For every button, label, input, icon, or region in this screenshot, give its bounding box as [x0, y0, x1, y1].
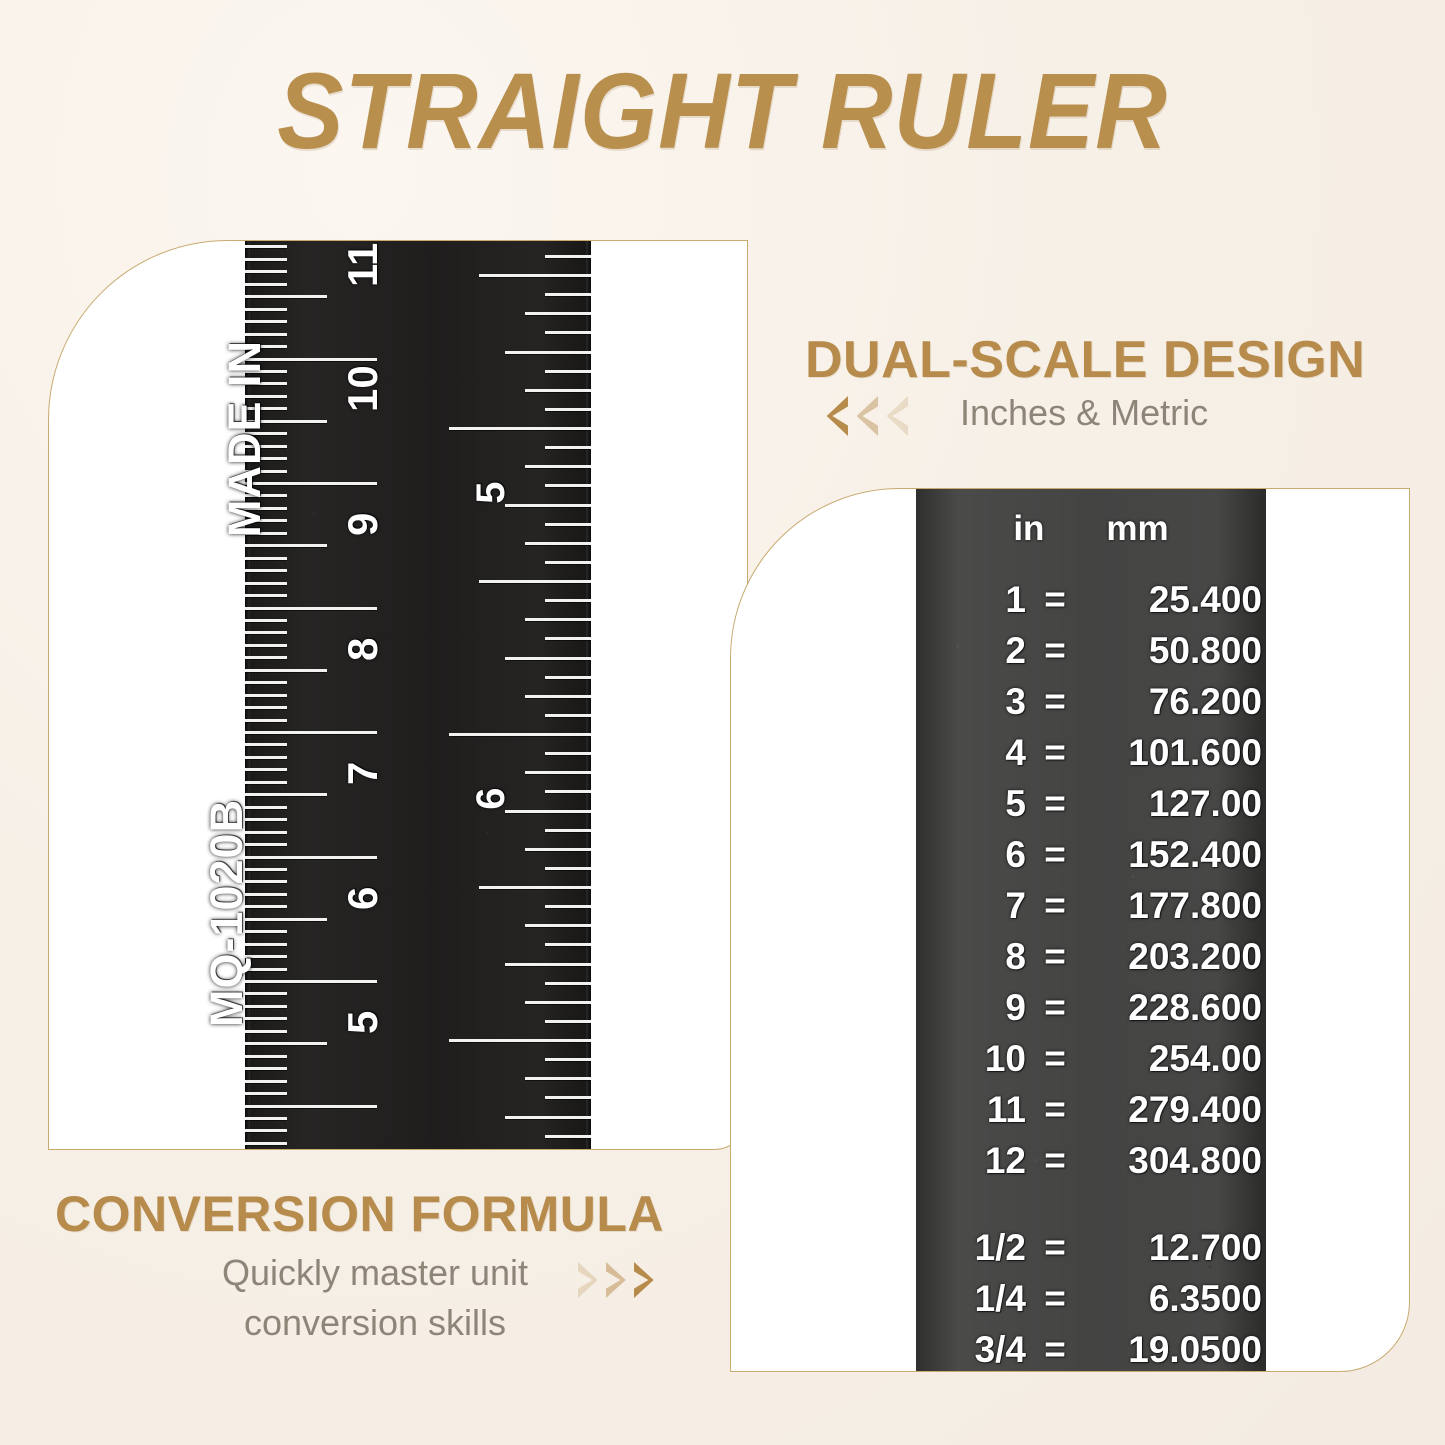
chevron-left-icon	[882, 396, 908, 436]
ruler-tick	[245, 656, 287, 659]
ruler-tick	[245, 295, 327, 298]
dual-scale-subtitle: Inches & Metric	[960, 392, 1208, 434]
ruler-tick	[245, 669, 327, 672]
chevron-left-icon	[852, 396, 878, 436]
ruler-tick	[545, 523, 591, 526]
metric-scale-number: 8	[339, 637, 387, 660]
ruler-tick	[545, 446, 591, 449]
ruler-tick	[245, 743, 287, 746]
conversion-inches-value: 1/4	[916, 1278, 1038, 1320]
equals-sign: =	[1038, 1278, 1072, 1320]
conversion-inches-value: 3	[916, 681, 1038, 723]
conversion-row: 3/4=19.0500	[916, 1329, 1266, 1372]
equals-sign: =	[1038, 681, 1072, 723]
ruler-tick	[245, 283, 287, 286]
conversion-inches-value: 3/4	[916, 1329, 1038, 1371]
conversion-row: 4=101.600	[916, 732, 1266, 783]
ruler-tick	[545, 255, 591, 258]
equals-sign: =	[1038, 1329, 1072, 1371]
ruler-tick	[245, 756, 287, 759]
model-number-label: MQ-1020B	[201, 799, 253, 1027]
column-header-mm: mm	[1106, 509, 1168, 549]
conversion-row: 11=279.400	[916, 1089, 1266, 1140]
ruler-tick	[505, 504, 591, 507]
ruler-tick	[545, 905, 591, 908]
equals-sign: =	[1038, 834, 1072, 876]
inch-tick-scale	[441, 240, 591, 1150]
ruler-tick	[245, 569, 287, 572]
ruler-tick	[245, 557, 287, 560]
equals-sign: =	[1038, 1038, 1072, 1080]
ruler-tick	[245, 544, 327, 547]
ruler-tick	[545, 752, 591, 755]
conversion-inches-value: 10	[916, 1038, 1038, 1080]
conversion-row-list: 1=25.4002=50.8003=76.2004=101.6005=127.0…	[916, 579, 1266, 1372]
inch-scale-number: 6	[469, 788, 514, 810]
equals-sign: =	[1038, 885, 1072, 927]
ruler-tick	[545, 484, 591, 487]
equals-sign: =	[1038, 732, 1072, 774]
ruler-tick	[545, 1020, 591, 1023]
chevron-right-icon	[578, 1262, 602, 1298]
ruler-tick	[245, 781, 287, 784]
conversion-row: 1=25.400	[916, 579, 1266, 630]
ruler-tick	[245, 1105, 377, 1108]
ruler-tick	[545, 982, 591, 985]
ruler-tick	[525, 312, 591, 315]
ruler-tick	[245, 918, 327, 921]
metric-scale-number: 10	[339, 365, 387, 412]
ruler-product-panel: 111098765 456 MADE IN MQ-1020B	[48, 240, 748, 1150]
dual-scale-heading: DUAL-SCALE DESIGN	[805, 330, 1365, 390]
ruler-tick	[505, 351, 591, 354]
equals-sign: =	[1038, 987, 1072, 1029]
ruler-tick	[245, 594, 287, 597]
conversion-inches-value: 2	[916, 630, 1038, 672]
conversion-inches-value: 9	[916, 987, 1038, 1029]
ruler-tick	[245, 1142, 287, 1145]
conversion-inches-value: 11	[916, 1089, 1038, 1131]
ruler-tick	[245, 308, 287, 311]
ruler-tick	[545, 943, 591, 946]
ruler-tick	[245, 856, 377, 859]
conversion-inches-value: 6	[916, 834, 1038, 876]
ruler-tick	[545, 293, 591, 296]
ruler-tick	[545, 599, 591, 602]
equals-sign: =	[1038, 1227, 1072, 1269]
ruler-tick	[545, 790, 591, 793]
metric-scale-number: 11	[339, 243, 387, 287]
equals-sign: =	[1038, 783, 1072, 825]
conversion-row: 12=304.800	[916, 1140, 1266, 1191]
ruler-tick	[545, 1058, 591, 1061]
ruler-tick	[245, 731, 377, 734]
ruler-tick	[545, 561, 591, 564]
ruler-tick	[245, 1080, 287, 1083]
ruler-tick	[505, 963, 591, 966]
ruler-tick	[245, 333, 287, 336]
ruler-tick	[545, 676, 591, 679]
conversion-inches-value: 5	[916, 783, 1038, 825]
conversion-formula-heading: CONVERSION FORMULA	[55, 1185, 664, 1243]
ruler-tick	[525, 695, 591, 698]
metric-scale-number: 5	[339, 1011, 387, 1034]
conversion-mm-value: 12.700	[1072, 1227, 1262, 1269]
ruler-tick	[545, 408, 591, 411]
ruler-tick	[545, 714, 591, 717]
conversion-row: 7=177.800	[916, 885, 1266, 936]
ruler-tick	[545, 1096, 591, 1099]
conversion-row: 1/2=12.700	[916, 1227, 1266, 1278]
metric-scale-number: 9	[339, 513, 387, 536]
ruler-tick	[245, 245, 287, 248]
ruler-tick	[245, 644, 287, 647]
conversion-table-header: in mm	[916, 509, 1266, 549]
conversion-inches-value: 1	[916, 579, 1038, 621]
ruler-tick	[525, 1001, 591, 1004]
ruler-tick	[545, 331, 591, 334]
ruler-tick	[245, 1092, 287, 1095]
ruler-tick	[245, 1042, 327, 1045]
equals-sign: =	[1038, 1089, 1072, 1131]
ruler-tick	[545, 637, 591, 640]
ruler-tick	[525, 1077, 591, 1080]
chevron-left-icon	[822, 396, 848, 436]
ruler-tick	[245, 706, 287, 709]
conversion-mm-value: 203.200	[1072, 936, 1262, 978]
equals-sign: =	[1038, 936, 1072, 978]
conversion-mm-value: 127.00	[1072, 783, 1262, 825]
conversion-mm-value: 279.400	[1072, 1089, 1262, 1131]
ruler-tick	[525, 542, 591, 545]
ruler-tick	[245, 619, 287, 622]
ruler-tick	[525, 389, 591, 392]
conversion-mm-value: 254.00	[1072, 1038, 1262, 1080]
conversion-row: 10=254.00	[916, 1038, 1266, 1089]
conversion-formula-chevrons	[578, 1262, 658, 1298]
equals-sign: =	[1038, 1140, 1072, 1182]
ruler-tick	[245, 631, 287, 634]
ruler-tick	[245, 694, 287, 697]
ruler-tick	[245, 1129, 287, 1132]
conversion-mm-value: 76.200	[1072, 681, 1262, 723]
dual-scale-chevrons	[822, 396, 908, 436]
equals-sign: =	[1038, 630, 1072, 672]
conversion-row: 6=152.400	[916, 834, 1266, 885]
metric-scale-number: 6	[339, 886, 387, 909]
conversion-mm-value: 6.3500	[1072, 1278, 1262, 1320]
conversion-row: 1/4=6.3500	[916, 1278, 1266, 1329]
conversion-formula-subtitle: Quickly master unit conversion skills	[175, 1248, 575, 1348]
ruler-tick	[505, 1116, 591, 1119]
conversion-plate: in mm 1=25.4002=50.8003=76.2004=101.6005…	[916, 488, 1266, 1372]
ruler-tick	[449, 427, 591, 430]
ruler-tick	[525, 924, 591, 927]
conversion-table-separator	[916, 1191, 1266, 1227]
conversion-inches-value: 1/2	[916, 1227, 1038, 1269]
ruler-tick	[505, 810, 591, 813]
conversion-mm-value: 177.800	[1072, 885, 1262, 927]
conversion-row: 2=50.800	[916, 630, 1266, 681]
ruler-tick	[525, 465, 591, 468]
ruler-tick	[245, 719, 287, 722]
ruler-tick	[245, 607, 377, 610]
ruler-tick	[505, 657, 591, 660]
metric-scale-number: 7	[339, 762, 387, 785]
conversion-inches-value: 7	[916, 885, 1038, 927]
conversion-mm-value: 101.600	[1072, 732, 1262, 774]
conversion-row: 8=203.200	[916, 936, 1266, 987]
ruler-tick	[525, 848, 591, 851]
ruler-tick	[245, 980, 377, 983]
ruler-body: 111098765 456	[245, 240, 591, 1150]
ruler-tick	[545, 829, 591, 832]
ruler-tick	[245, 1067, 287, 1070]
conversion-inches-value: 8	[916, 936, 1038, 978]
conversion-mm-value: 152.400	[1072, 834, 1262, 876]
ruler-tick	[245, 320, 287, 323]
conversion-row: 3=76.200	[916, 681, 1266, 732]
ruler-tick	[245, 1030, 287, 1033]
ruler-tick	[545, 867, 591, 870]
conversion-mm-value: 50.800	[1072, 630, 1262, 672]
ruler-tick	[545, 1135, 591, 1138]
ruler-tick	[245, 768, 287, 771]
conversion-mm-value: 228.600	[1072, 987, 1262, 1029]
conversion-inches-value: 12	[916, 1140, 1038, 1182]
ruler-tick	[479, 886, 591, 889]
ruler-tick	[449, 733, 591, 736]
conversion-inches-value: 4	[916, 732, 1038, 774]
ruler-tick	[245, 582, 287, 585]
ruler-tick	[245, 793, 327, 796]
equals-sign: =	[1038, 579, 1072, 621]
ruler-tick	[245, 681, 287, 684]
column-header-in: in	[1013, 509, 1044, 549]
ruler-tick	[245, 258, 287, 261]
conversion-table-panel: in mm 1=25.4002=50.8003=76.2004=101.6005…	[730, 488, 1410, 1372]
conversion-mm-value: 19.0500	[1072, 1329, 1262, 1371]
chevron-right-icon	[606, 1262, 630, 1298]
chevron-right-icon	[634, 1262, 658, 1298]
ruler-tick	[449, 1039, 591, 1042]
made-in-label: MADE IN	[219, 340, 271, 537]
conversion-mm-value: 25.400	[1072, 579, 1262, 621]
ruler-tick	[525, 618, 591, 621]
ruler-tick	[545, 370, 591, 373]
page-title: STRAIGHT RULER	[58, 48, 1387, 173]
conversion-row: 5=127.00	[916, 783, 1266, 834]
ruler-tick	[245, 270, 287, 273]
ruler-tick	[245, 1117, 287, 1120]
ruler-tick	[525, 771, 591, 774]
ruler-tick	[479, 274, 591, 277]
conversion-mm-value: 304.800	[1072, 1140, 1262, 1182]
ruler-tick	[245, 1055, 287, 1058]
conversion-row: 9=228.600	[916, 987, 1266, 1038]
inch-scale-number: 5	[469, 482, 514, 504]
ruler-tick	[479, 580, 591, 583]
